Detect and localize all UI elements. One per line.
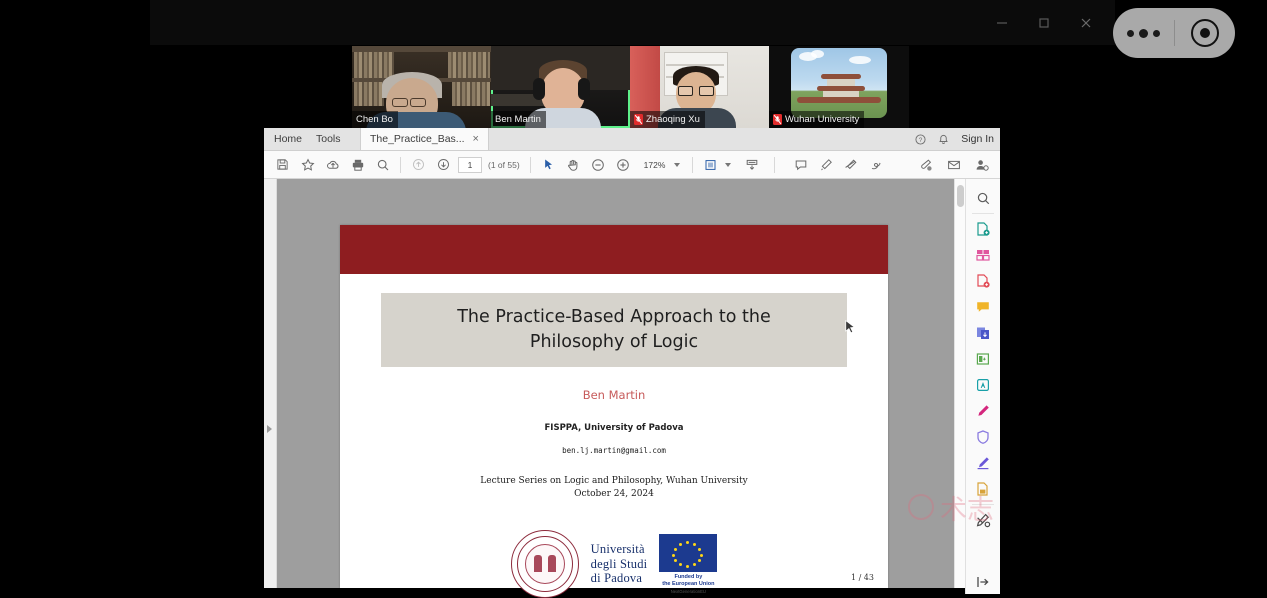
record-button[interactable] [1175, 19, 1236, 47]
padova-wordmark: Università degli Studi di Padova [591, 542, 648, 586]
edit-pdf-tool[interactable] [968, 268, 998, 294]
fill-and-sign-tool[interactable] [968, 398, 998, 424]
more-options-icon[interactable] [1113, 29, 1174, 38]
participant-tile[interactable]: Ben Martin [491, 46, 630, 128]
padova-line3: di Padova [591, 571, 648, 586]
eu-funding-logo: Funded by the European Union NextGenerat… [659, 534, 717, 595]
next-page-icon[interactable] [431, 152, 456, 177]
participant-name-badge: Ben Martin [491, 111, 546, 128]
participant-name: Zhaoqing Xu [646, 114, 700, 125]
toolbar: 1 (1 of 55) 172% [264, 151, 1000, 179]
add-to-favorites-icon[interactable] [295, 152, 320, 177]
participant-name-badge: Zhaoqing Xu [630, 111, 705, 128]
pdf-page: The Practice-Based Approach to the Philo… [340, 225, 888, 588]
recording-control-pill[interactable] [1113, 8, 1235, 58]
search-icon[interactable] [370, 152, 395, 177]
slide-email: ben.lj.martin@gmail.com [340, 446, 888, 455]
slide-title-line2: Philosophy of Logic [530, 330, 698, 355]
eu-subtext: NextGenerationEU [671, 589, 706, 594]
scrollbar-thumb[interactable] [957, 185, 964, 207]
previous-page-icon[interactable] [406, 152, 431, 177]
slide-title-box: The Practice-Based Approach to the Philo… [381, 293, 847, 367]
eu-funding-text: Funded by the European Union [662, 574, 714, 588]
maximize-button[interactable] [1023, 10, 1065, 36]
document-tab[interactable]: The_Practice_Bas... × [360, 128, 489, 150]
eu-flag-icon [659, 534, 717, 572]
organize-pages-tool[interactable] [968, 242, 998, 268]
close-tab-icon[interactable]: × [473, 134, 479, 145]
participant-name-badge: Wuhan University [769, 111, 864, 128]
select-tool-icon[interactable] [536, 152, 561, 177]
participant-name: Chen Bo [356, 114, 393, 125]
university-of-padova-seal [511, 530, 579, 598]
comment-tool[interactable] [968, 294, 998, 320]
export-pdf-tool[interactable] [968, 216, 998, 242]
right-tools-panel [965, 179, 1000, 594]
zoom-in-icon[interactable] [611, 152, 636, 177]
zoom-level-value[interactable]: 172% [644, 160, 666, 170]
page-count-label: (1 of 55) [488, 160, 520, 170]
participant-tile[interactable]: Chen Bo [352, 46, 491, 128]
menu-home[interactable]: Home [274, 128, 302, 150]
protect-tool[interactable] [968, 424, 998, 450]
expand-right-panel-icon[interactable] [966, 574, 1000, 590]
menu-tools[interactable]: Tools [316, 128, 341, 150]
svg-text:?: ? [919, 136, 923, 143]
close-button[interactable] [1065, 10, 1107, 36]
document-viewport: The Practice-Based Approach to the Philo… [264, 179, 1000, 588]
minimize-button[interactable] [981, 10, 1023, 36]
slide-date: October 24, 2024 [340, 488, 888, 501]
padova-line1: Università [591, 542, 648, 557]
mouse-cursor [845, 320, 856, 335]
slide-title-line1: The Practice-Based Approach to the [457, 305, 771, 330]
compress-pdf-tool[interactable] [968, 346, 998, 372]
hand-tool-icon[interactable] [561, 152, 586, 177]
print-icon[interactable] [345, 152, 370, 177]
slide-venue-date: Lecture Series on Logic and Philosophy, … [340, 475, 888, 501]
muted-microphone-icon [773, 114, 782, 125]
participant-tile[interactable]: Wuhan University [769, 46, 908, 128]
expand-navigation-pane-icon[interactable] [267, 425, 272, 433]
notification-bell-icon[interactable] [938, 134, 949, 145]
page-number-input[interactable]: 1 [458, 157, 482, 173]
draw-free-icon[interactable] [863, 152, 888, 177]
watermark: 术志 [908, 487, 1078, 527]
participant-tile[interactable]: Zhaoqing Xu [630, 46, 769, 128]
share-by-email-icon[interactable] [941, 152, 966, 177]
fit-page-icon[interactable] [698, 152, 723, 177]
slide-author: Ben Martin [340, 388, 888, 402]
padova-line2: degli Studi [591, 557, 648, 572]
sign-in-button[interactable]: Sign In [961, 133, 994, 145]
eu-line2: the European Union [662, 581, 714, 588]
chevron-down-icon[interactable] [725, 163, 731, 167]
window-controls [981, 10, 1107, 36]
upload-to-cloud-icon[interactable] [320, 152, 345, 177]
participant-name: Ben Martin [495, 114, 541, 125]
document-tab-title: The_Practice_Bas... [370, 133, 465, 145]
eu-line1: Funded by [662, 574, 714, 581]
search-tool[interactable] [968, 185, 998, 211]
highlight-text-icon[interactable] [813, 152, 838, 177]
zoom-out-icon[interactable] [586, 152, 611, 177]
muted-microphone-icon [634, 114, 643, 125]
add-comment-icon[interactable] [788, 152, 813, 177]
request-signatures-tool[interactable] [968, 450, 998, 476]
video-filmstrip: Chen Bo Ben Martin [352, 46, 909, 128]
slide-affiliation: FISPPA, University of Padova [340, 423, 888, 433]
slide-venue: Lecture Series on Logic and Philosophy, … [340, 475, 888, 488]
combine-files-tool[interactable] [968, 320, 998, 346]
tab-bar: Home Tools The_Practice_Bas... × ? Sign … [264, 128, 1000, 151]
navigation-pane-rail[interactable] [264, 179, 277, 588]
share-with-others-icon[interactable] [969, 152, 994, 177]
strikethrough-icon[interactable] [838, 152, 863, 177]
watermark-text: 术志 [940, 488, 994, 527]
save-icon[interactable] [270, 152, 295, 177]
attach-file-icon[interactable] [913, 152, 938, 177]
watermark-logo-icon [908, 494, 934, 520]
help-icon[interactable]: ? [915, 134, 926, 145]
chevron-down-icon[interactable] [674, 163, 680, 167]
slide-page-indicator: 1 / 43 [851, 573, 874, 582]
slide-header-band [340, 225, 888, 274]
slide-logos: Università degli Studi di Padova [340, 530, 888, 598]
screen: Chen Bo Ben Martin [0, 0, 1267, 586]
adobe-scan-tool[interactable] [968, 372, 998, 398]
participant-name: Wuhan University [785, 114, 859, 125]
read-mode-icon[interactable] [739, 152, 764, 177]
window-titlebar [150, 0, 1115, 45]
participant-name-badge: Chen Bo [352, 111, 398, 128]
acrobat-window: Home Tools The_Practice_Bas... × ? Sign … [264, 128, 1000, 586]
